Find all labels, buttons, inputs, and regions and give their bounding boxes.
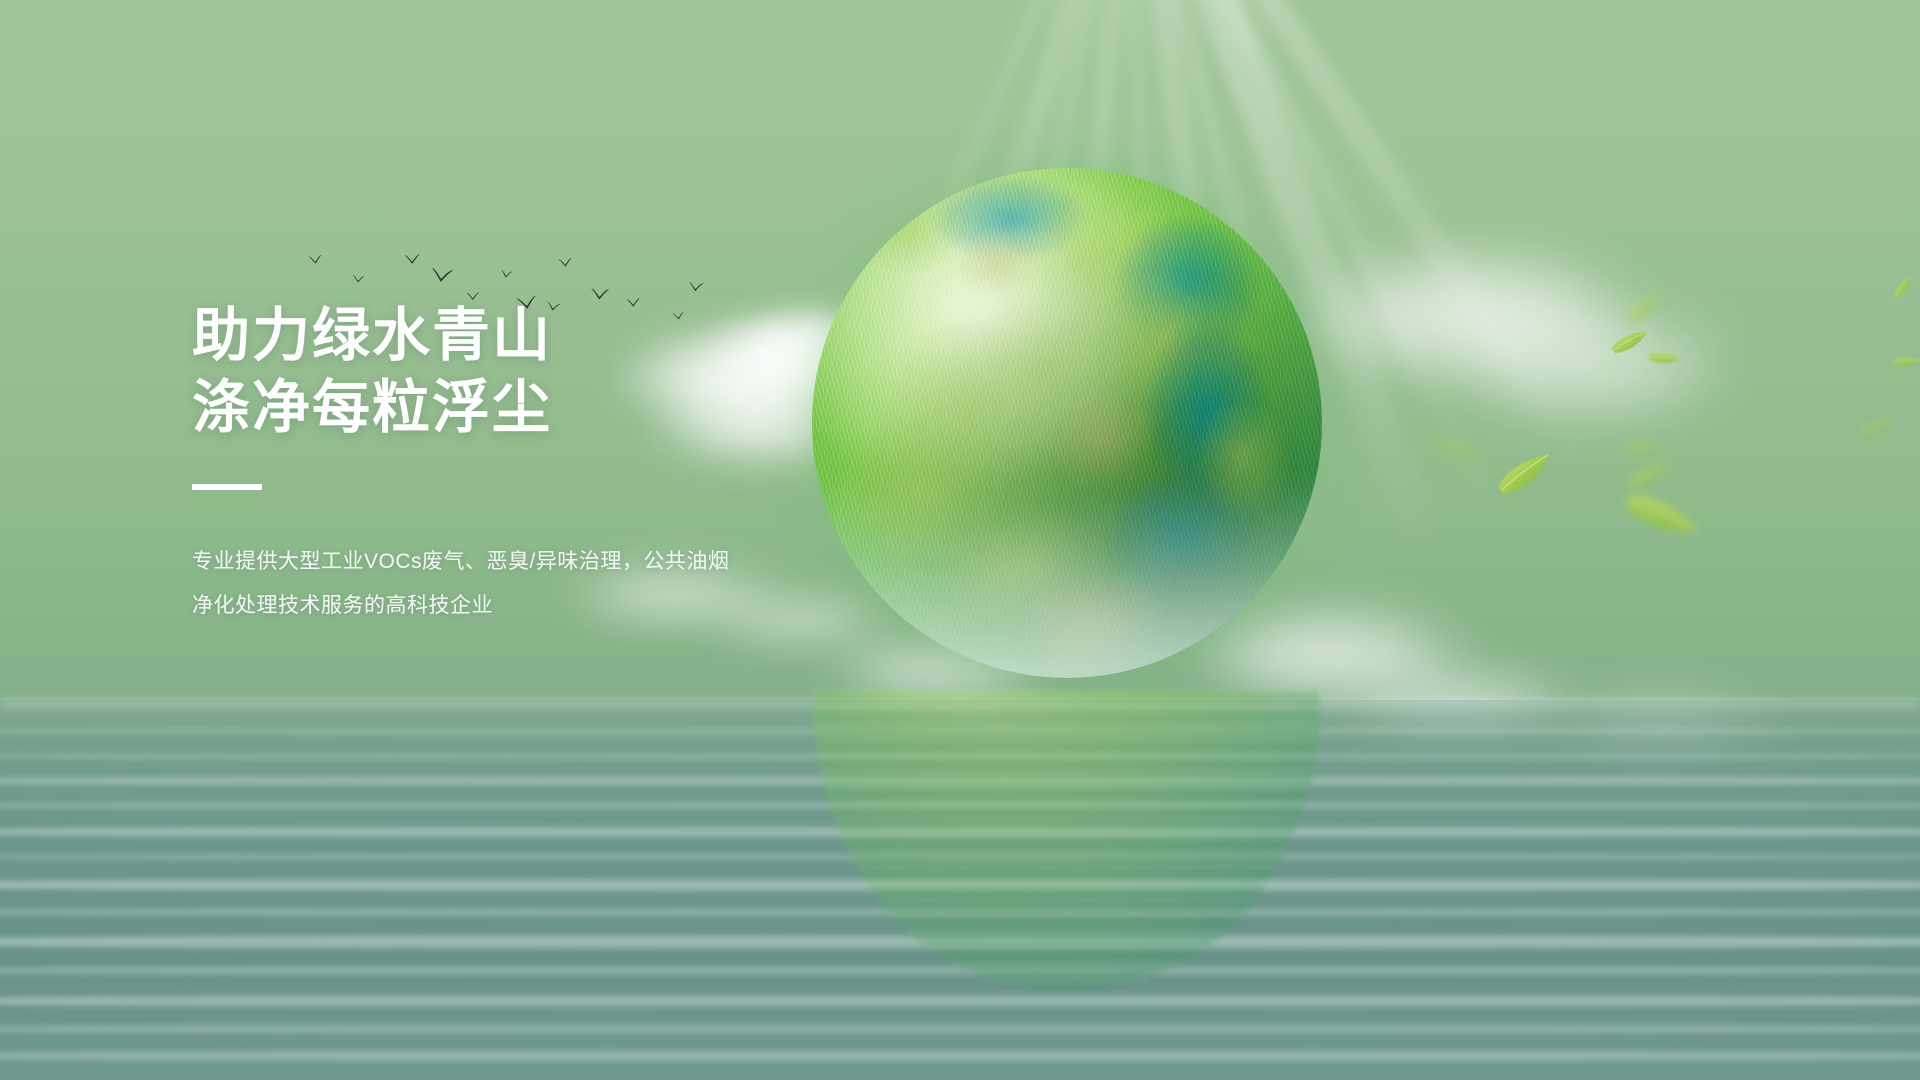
bird-icon [590,287,611,300]
headline-divider [192,484,262,490]
leaf-icon [1620,291,1667,328]
headline-line-2: 涤净每粒浮尘 [192,372,892,444]
bird-icon [558,257,574,268]
leaf-icon [1623,458,1677,492]
bird-icon [500,269,514,279]
hero-copy: 助力绿水青山 涤净每粒浮尘 专业提供大型工业VOCs废气、恶臭/异味治理，公共油… [192,300,892,628]
water-ripple [0,876,1920,894]
headline-line-1: 助力绿水青山 [192,300,892,372]
water-ripple [0,906,1920,918]
water-ripple [0,1048,1920,1064]
leaf-icon [1491,451,1558,498]
water-ripple [0,800,1920,811]
bird-icon [404,254,422,265]
cloud [1440,300,1740,430]
water-ripple [0,1022,1920,1036]
leaf-icon [1619,438,1666,460]
water-ripple [0,752,1920,761]
water-surface-with-ripples [0,700,1920,1080]
water-ripple [0,726,1920,736]
hero-subtitle: 专业提供大型工业VOCs废气、恶臭/异味治理，公共油烟净化处理技术服务的高科技企… [192,540,732,628]
water-ripple [0,774,1920,788]
leaf-icon [1647,347,1682,370]
leaf-icon [1859,416,1897,438]
bird-icon [429,267,454,284]
hero-banner: 助力绿水青山 涤净每粒浮尘 专业提供大型工业VOCs废气、恶臭/异味治理，公共油… [0,0,1920,1080]
water-ripple [0,852,1920,862]
leaf-icon [1889,275,1917,301]
bird-icon [308,254,324,265]
water-ripple [0,964,1920,977]
leaf-icon [1428,427,1487,474]
bird-icon [352,275,366,284]
leaf-icon [1891,354,1920,371]
water-ripple [0,932,1920,952]
leaf-icon [1618,479,1702,555]
cloud [1290,240,1650,390]
water-ripple [0,992,1920,1010]
water-ripple [0,824,1920,840]
leaf-icon [1609,329,1652,355]
bird-icon [688,281,705,292]
